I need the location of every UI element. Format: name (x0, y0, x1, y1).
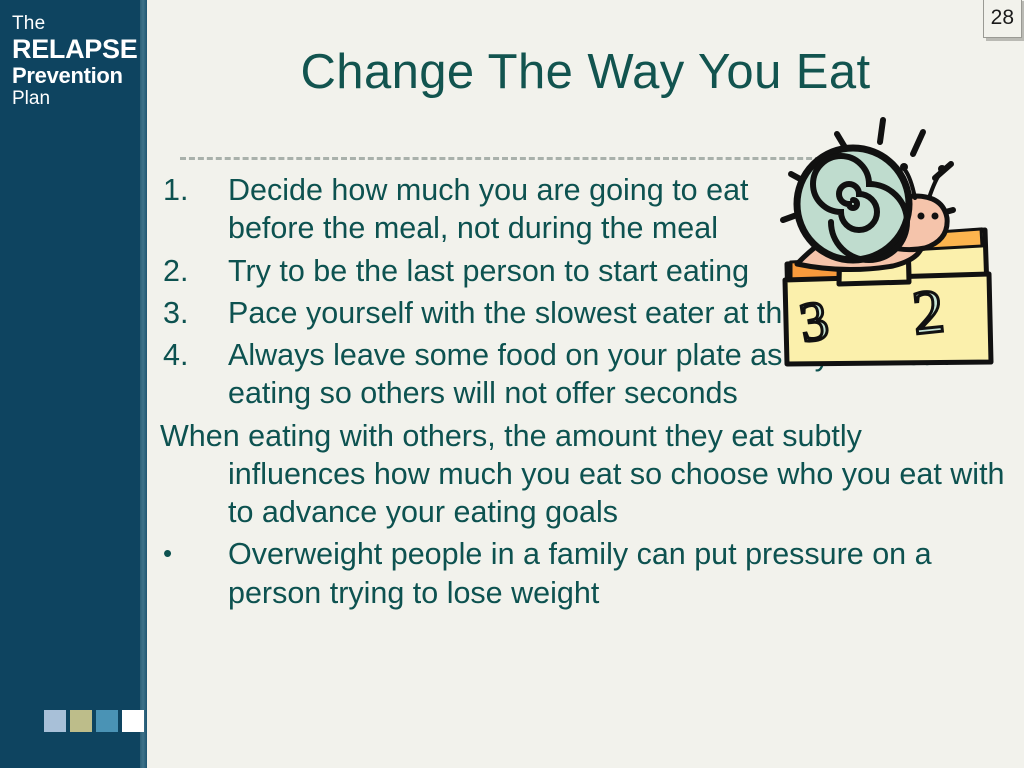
sidebar-edge-stripe (140, 0, 147, 768)
slide: The RELAPSE Prevention Plan 28 Change Th… (0, 0, 1024, 768)
sidebar-color-swatches (44, 710, 144, 732)
snail-on-winners-podium-illustration: 1 2 3 (775, 112, 1020, 377)
body-paragraph-lead: When eating with others, the amount they… (160, 419, 862, 453)
logo-line-prevention: Prevention (12, 64, 136, 87)
snail-eye-right (932, 213, 939, 220)
body-paragraph-rest: influences how much you eat so choose wh… (160, 455, 1005, 532)
sidebar (0, 0, 140, 768)
swatch-khaki (70, 710, 92, 732)
bullet-text: Overweight people in a family can put pr… (228, 535, 1005, 612)
logo-line-plan: Plan (12, 89, 136, 109)
list-item-marker: 2. (160, 252, 228, 290)
page-title: Change The Way You Eat (147, 44, 1024, 100)
list-item-text: Try to be the last person to start eatin… (228, 252, 813, 290)
list-item-marker: 3. (160, 294, 228, 332)
swatch-white (122, 710, 144, 732)
snail-antenna-tip-right (938, 165, 946, 173)
logo-line-the: The (12, 14, 136, 34)
list-item-marker: 4. (160, 336, 228, 374)
body-paragraph: When eating with others, the amount they… (160, 417, 1005, 532)
list-item-marker: 1. (160, 171, 228, 209)
list-item-text: Decide how much you are going to eat bef… (228, 171, 813, 248)
snail-antenna-tip-left (900, 163, 908, 171)
logo-line-relapse: RELAPSE (12, 35, 136, 63)
page-number-badge: 28 (983, 0, 1022, 38)
bullet-marker: • (160, 535, 228, 573)
brand-logo: The RELAPSE Prevention Plan (12, 14, 136, 109)
swatch-light-blue (44, 710, 66, 732)
snail-eye-left (918, 213, 925, 220)
snail-shell (797, 148, 909, 260)
title-divider (180, 157, 830, 160)
swatch-blue (96, 710, 118, 732)
list-item: • Overweight people in a family can put … (160, 535, 1005, 612)
